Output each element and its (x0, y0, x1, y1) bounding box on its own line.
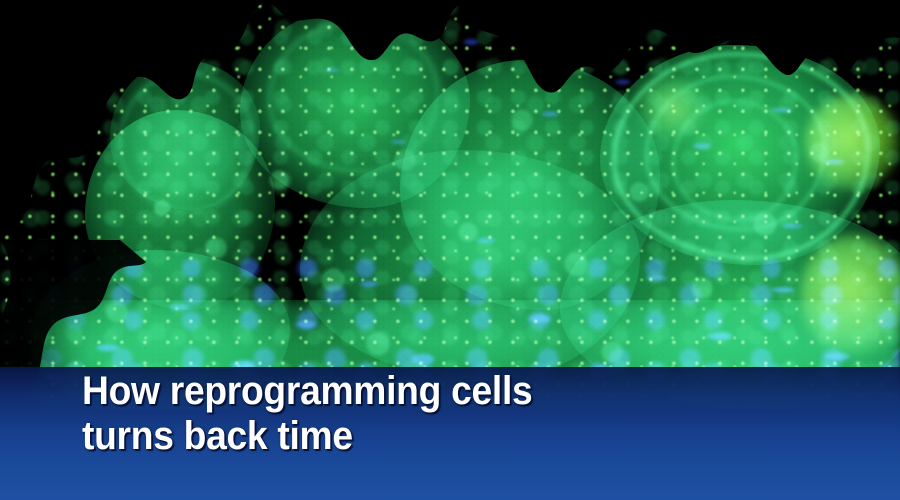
page-title: How reprogramming cells turns back time (82, 369, 789, 459)
hero-banner: How reprogramming cells turns back time (0, 0, 900, 500)
